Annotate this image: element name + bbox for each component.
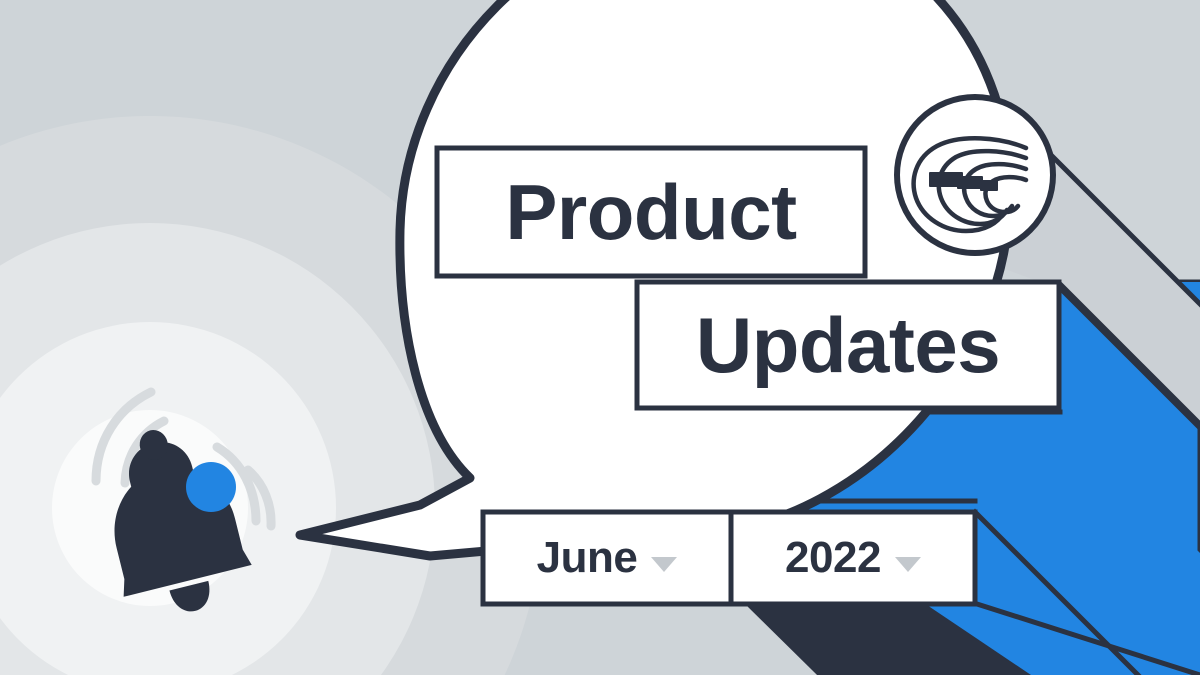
ringing-bell-icon [86,392,271,627]
year-select-value: 2022 [785,533,881,583]
month-select[interactable]: June [483,512,731,604]
headline-box-product [437,148,865,276]
chevron-down-icon[interactable] [895,557,921,572]
chevron-down-icon[interactable] [651,557,677,572]
headline-box-updates [637,282,1059,408]
bell-body [86,414,259,626]
year-select[interactable]: 2022 [731,512,975,604]
banner-canvas: Product Updates June 2022 [0,0,1200,675]
navy-shadow-outline [977,604,1200,675]
month-select-value: June [537,533,638,583]
brand-logo-badge [897,97,1053,253]
bell-notification-dot [186,462,236,512]
